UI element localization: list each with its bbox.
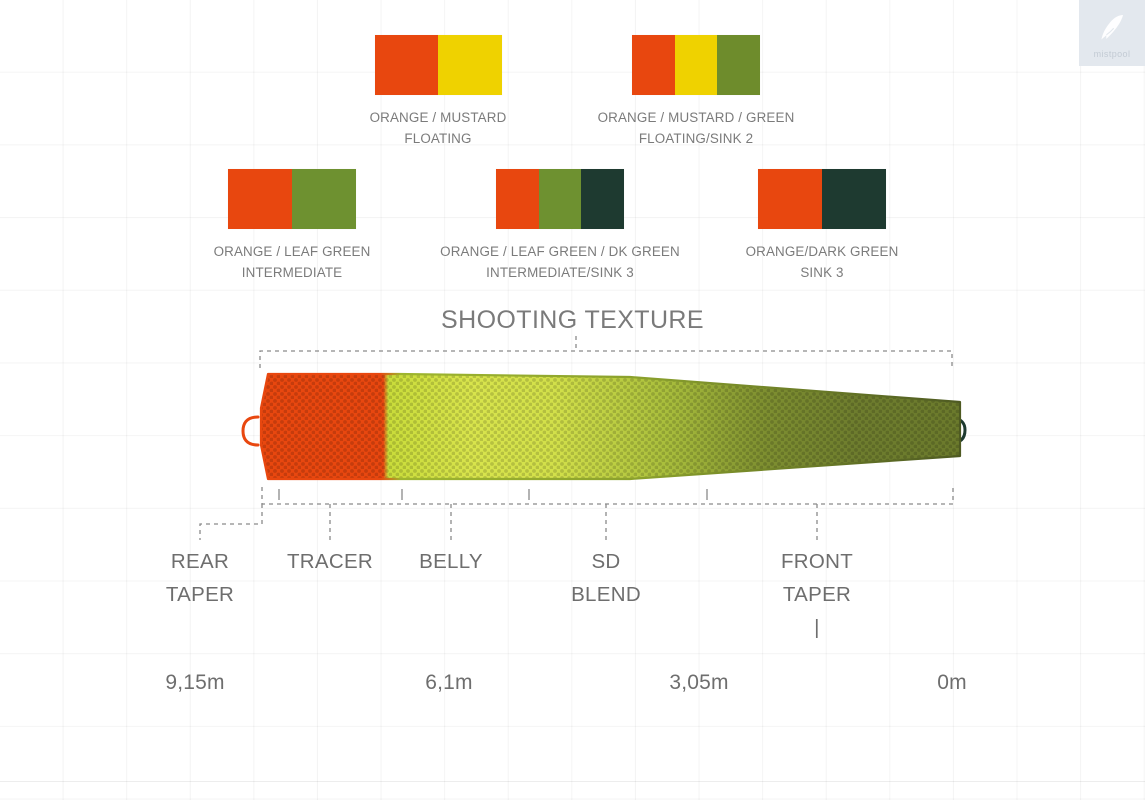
- distance-label-0m: 0m: [882, 671, 1022, 695]
- distance-label-3-05m: 3,05m: [629, 671, 769, 695]
- section-tickmarks-upper: [279, 489, 707, 500]
- section-bracket: [262, 487, 953, 504]
- section-leaders: [200, 504, 817, 540]
- distance-label-6-1m: 6,1m: [379, 671, 519, 695]
- distance-label-9-15m: 9,15m: [125, 671, 265, 695]
- section-label-rear-taper: REAR TAPER: [130, 545, 270, 611]
- fly-line-body: [255, 370, 967, 485]
- section-label-front-taper: FRONT TAPER |: [747, 545, 887, 644]
- section-label-tracer: TRACER: [260, 545, 400, 578]
- section-label-belly: BELLY: [381, 545, 521, 578]
- section-label-sd-blend: SD BLEND: [536, 545, 676, 611]
- rear-loop-icon: [243, 417, 258, 445]
- shooting-texture-bracket: [260, 351, 952, 368]
